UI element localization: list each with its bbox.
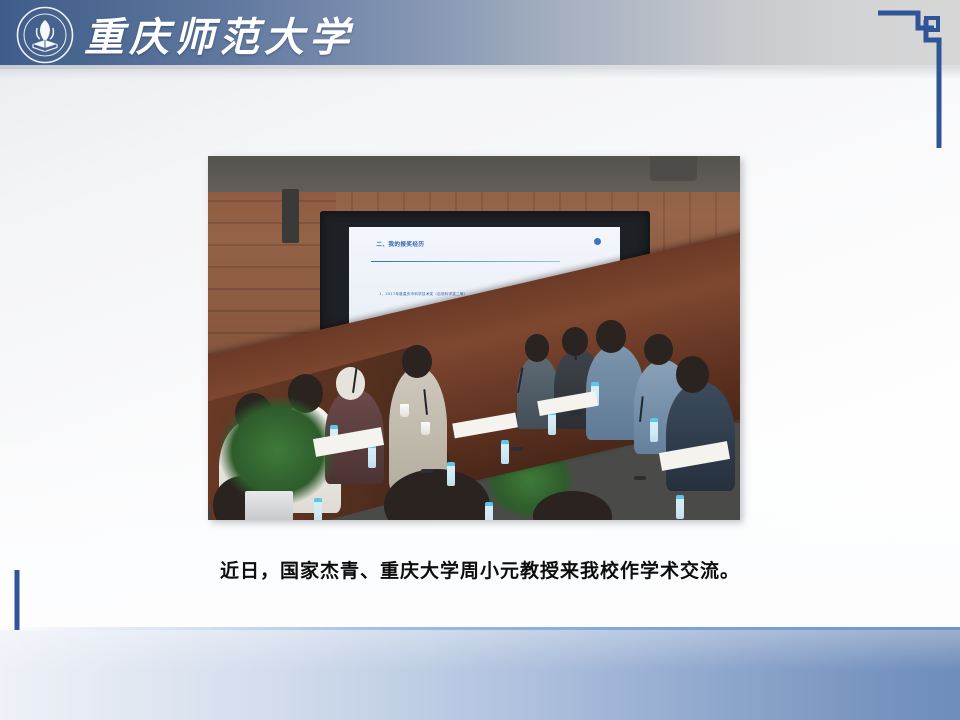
chinese-fret-corner-icon [878, 8, 942, 148]
slide-title-text: 二、我的报奖经历 [376, 240, 424, 248]
header-shadow [0, 69, 960, 79]
university-seal-icon [16, 6, 74, 64]
photo-caption: 近日，国家杰青、重庆大学周小元教授来我校作学术交流。 [0, 556, 960, 583]
slide-page-badge-icon [594, 238, 601, 245]
slide-bullet-1: 1、2017年度重庆市科学技术奖（自然科学奖二等） [379, 292, 467, 297]
presentation-slide: 重庆师范大学 [0, 0, 960, 720]
event-photo: 二、我的报奖经历 1、2017年度重庆市科学技术奖（自然科学奖二等） 经费来源：… [208, 156, 740, 520]
university-name: 重庆师范大学 [84, 3, 354, 65]
footer-band-sheen [0, 630, 960, 720]
